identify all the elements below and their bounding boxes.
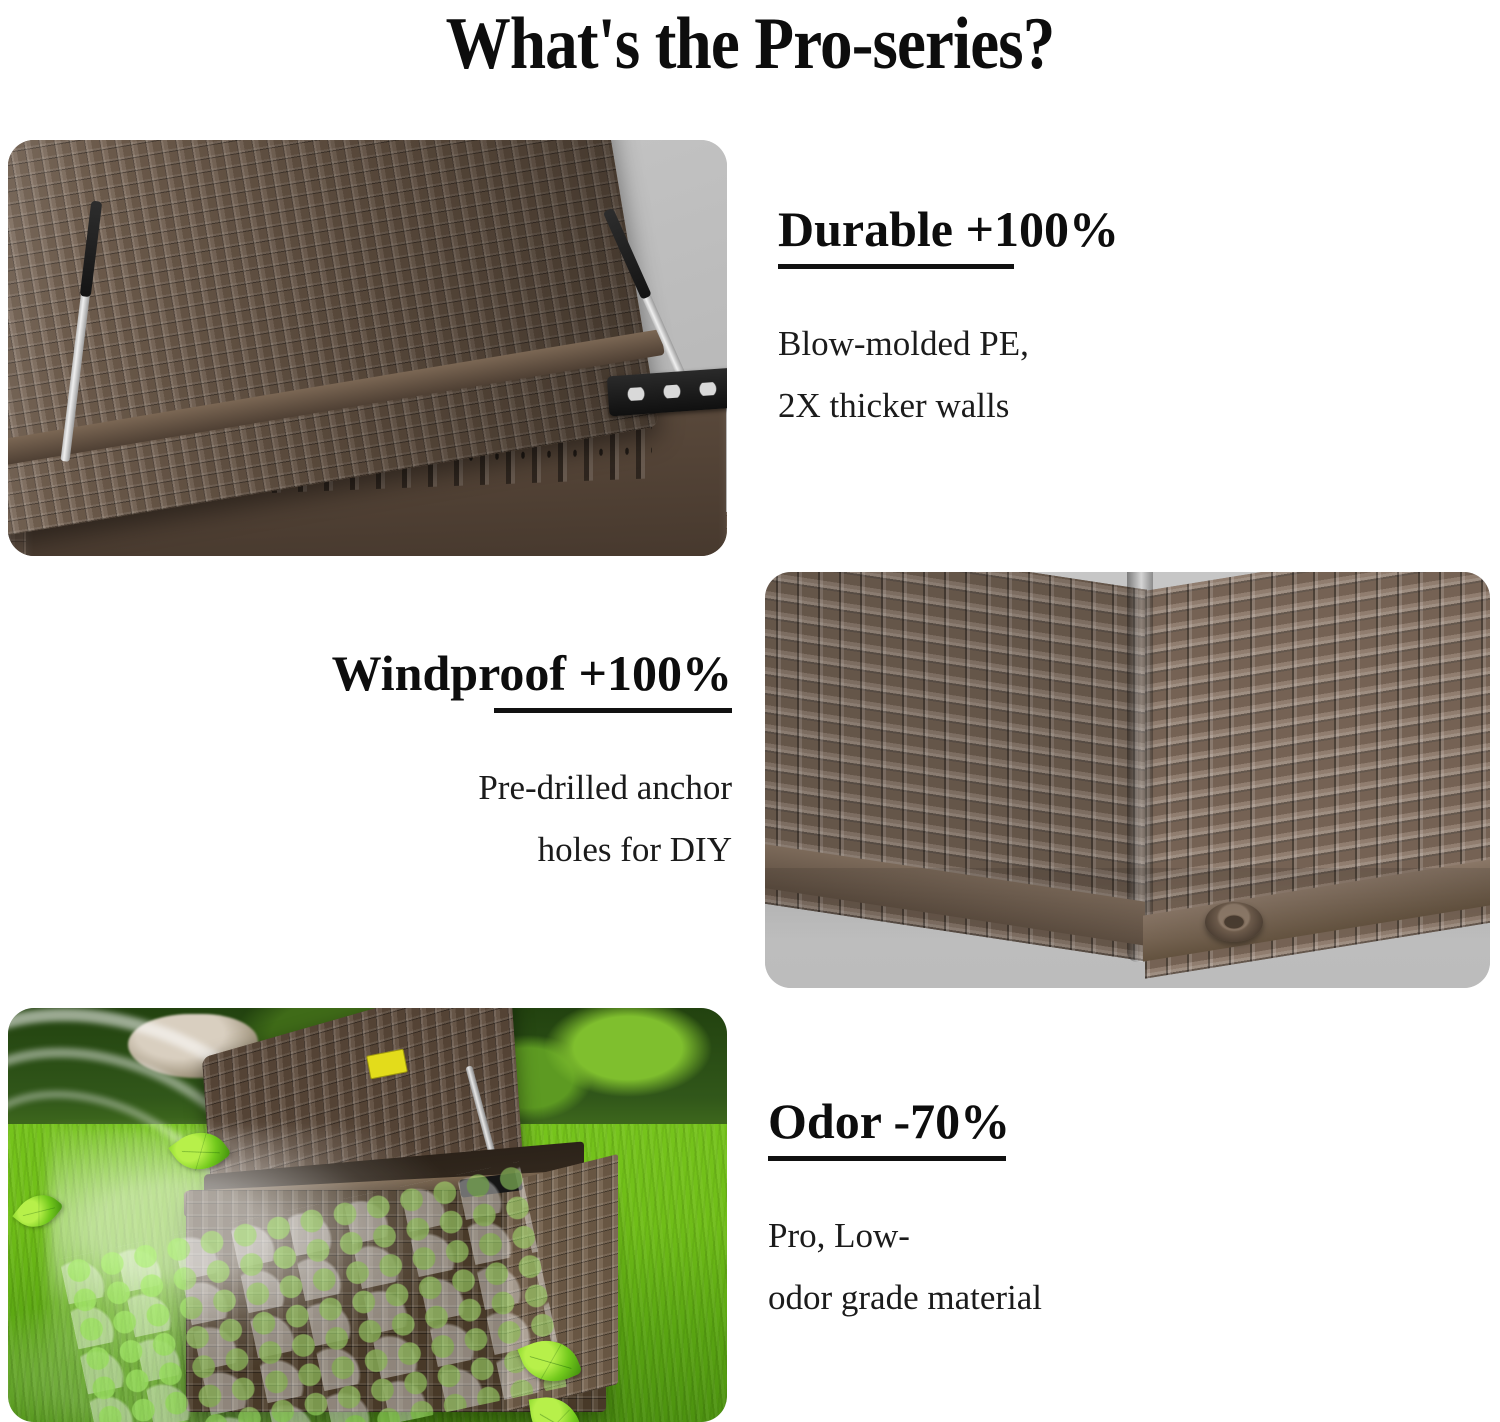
feature-block-odor: Odor -70% Pro, Low- odor grade material <box>768 1092 1042 1329</box>
feature-body-line-2: 2X thicker walls <box>778 375 1119 437</box>
feature-body-line-2: holes for DIY <box>276 819 732 881</box>
feature-heading-windproof: Windproof +100% <box>276 644 732 702</box>
feature-underline-rule <box>494 708 732 713</box>
product-photo-wicker-corner <box>765 572 1490 988</box>
feature-heading-odor: Odor -70% <box>768 1092 1042 1150</box>
feature-underline-rule <box>768 1156 1006 1161</box>
product-photo-open-deck-box <box>8 140 727 556</box>
feature-body-line-2: odor grade material <box>768 1267 1042 1329</box>
product-photo-garden-scene <box>8 1008 727 1422</box>
page-title: What's the Pro-series? <box>90 2 1410 86</box>
feature-body-line-1: Pro, Low- <box>768 1205 1042 1267</box>
feature-heading-durable: Durable +100% <box>778 200 1119 258</box>
feature-body-line-1: Pre-drilled anchor <box>276 757 732 819</box>
feature-block-durable: Durable +100% Blow-molded PE, 2X thicker… <box>778 200 1119 437</box>
feature-body-line-1: Blow-molded PE, <box>778 313 1119 375</box>
feature-underline-rule <box>778 264 1014 269</box>
feature-block-windproof: Windproof +100% Pre-drilled anchor holes… <box>276 644 732 881</box>
floor-shadow <box>765 868 1490 988</box>
hinge-plate <box>607 368 727 417</box>
